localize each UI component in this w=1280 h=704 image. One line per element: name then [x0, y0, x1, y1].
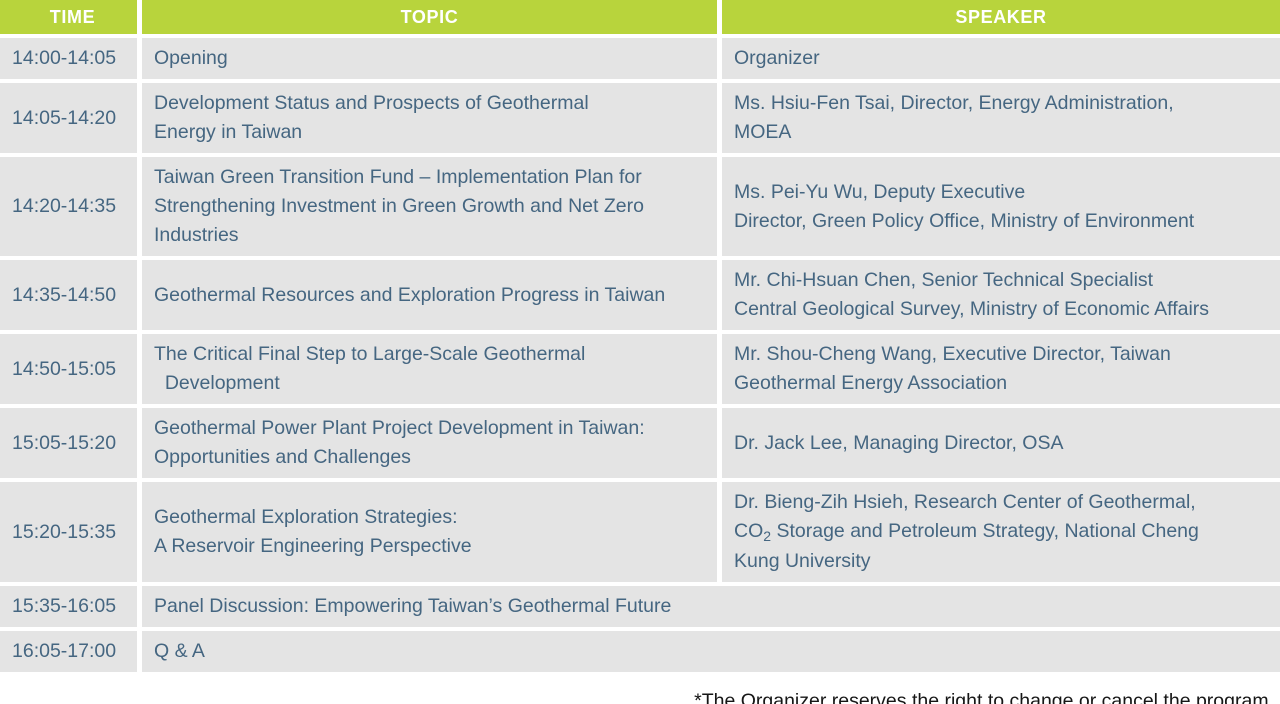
table-row: 14:05-14:20Development Status and Prospe… — [0, 83, 1280, 153]
table-row: 16:05-17:00Q & A — [0, 631, 1280, 672]
topic-line: Strengthening Investment in Green Growth… — [154, 192, 707, 221]
cell-topic: Development Status and Prospects of Geot… — [142, 83, 717, 153]
topic-line: Industries — [154, 221, 707, 250]
topic-line: A Reservoir Engineering Perspective — [154, 532, 707, 561]
speaker-line: Kung University — [734, 547, 1270, 576]
cell-time: 15:35-16:05 — [0, 586, 137, 627]
footnote-disclaimer: *The Organizer reserves the right to cha… — [0, 676, 1280, 704]
speaker-line: Director, Green Policy Office, Ministry … — [734, 207, 1270, 236]
table-row: 15:05-15:20Geothermal Power Plant Projec… — [0, 408, 1280, 478]
cell-time: 14:05-14:20 — [0, 83, 137, 153]
cell-time: 14:50-15:05 — [0, 334, 137, 404]
speaker-line: MOEA — [734, 118, 1270, 147]
speaker-line: Ms. Pei-Yu Wu, Deputy Executive — [734, 178, 1270, 207]
speaker-line: CO2 Storage and Petroleum Strategy, Nati… — [734, 517, 1270, 547]
cell-speaker: Ms. Pei-Yu Wu, Deputy ExecutiveDirector,… — [722, 157, 1280, 256]
speaker-line: Dr. Bieng-Zih Hsieh, Research Center of … — [734, 488, 1270, 517]
cell-speaker: Organizer — [722, 38, 1280, 79]
cell-topic: Geothermal Exploration Strategies:A Rese… — [142, 482, 717, 582]
speaker-line: Central Geological Survey, Ministry of E… — [734, 295, 1270, 324]
table-row: 14:35-14:50Geothermal Resources and Expl… — [0, 260, 1280, 330]
table-header-row: TIME TOPIC SPEAKER — [0, 0, 1280, 34]
cell-speaker: Ms. Hsiu-Fen Tsai, Director, Energy Admi… — [722, 83, 1280, 153]
table-row: 14:50-15:05The Critical Final Step to La… — [0, 334, 1280, 404]
cell-topic: Geothermal Power Plant Project Developme… — [142, 408, 717, 478]
cell-time: 14:00-14:05 — [0, 38, 137, 79]
cell-topic: Geothermal Resources and Exploration Pro… — [142, 260, 717, 330]
speaker-line: Mr. Chi-Hsuan Chen, Senior Technical Spe… — [734, 266, 1270, 295]
cell-topic-fullwidth: Q & A — [142, 631, 1280, 672]
cell-time: 14:20-14:35 — [0, 157, 137, 256]
cell-time: 15:05-15:20 — [0, 408, 137, 478]
agenda-table-page: TIME TOPIC SPEAKER 14:00-14:05OpeningOrg… — [0, 0, 1280, 704]
speaker-line: Ms. Hsiu-Fen Tsai, Director, Energy Admi… — [734, 89, 1270, 118]
column-header-time: TIME — [0, 0, 137, 34]
speaker-line: Geothermal Energy Association — [734, 369, 1270, 398]
table-row: 15:35-16:05Panel Discussion: Empowering … — [0, 586, 1280, 627]
topic-line: Geothermal Resources and Exploration Pro… — [154, 281, 707, 310]
table-body: 14:00-14:05OpeningOrganizer14:05-14:20De… — [0, 38, 1280, 672]
cell-speaker: Mr. Chi-Hsuan Chen, Senior Technical Spe… — [722, 260, 1280, 330]
cell-topic: Opening — [142, 38, 717, 79]
cell-time: 15:20-15:35 — [0, 482, 137, 582]
table-row: 15:20-15:35Geothermal Exploration Strate… — [0, 482, 1280, 582]
speaker-line: Mr. Shou-Cheng Wang, Executive Director,… — [734, 340, 1270, 369]
cell-topic: Taiwan Green Transition Fund – Implement… — [142, 157, 717, 256]
cell-speaker: Dr. Jack Lee, Managing Director, OSA — [722, 408, 1280, 478]
cell-topic-fullwidth: Panel Discussion: Empowering Taiwan’s Ge… — [142, 586, 1280, 627]
topic-line: Opening — [154, 44, 707, 73]
cell-speaker: Dr. Bieng-Zih Hsieh, Research Center of … — [722, 482, 1280, 582]
cell-speaker: Mr. Shou-Cheng Wang, Executive Director,… — [722, 334, 1280, 404]
cell-time: 14:35-14:50 — [0, 260, 137, 330]
topic-line: Development — [154, 369, 707, 398]
topic-line: Geothermal Exploration Strategies: — [154, 503, 707, 532]
topic-line: Energy in Taiwan — [154, 118, 707, 147]
topic-line: Development Status and Prospects of Geot… — [154, 89, 707, 118]
topic-line: Q & A — [154, 637, 1270, 666]
cell-time: 16:05-17:00 — [0, 631, 137, 672]
topic-line: Geothermal Power Plant Project Developme… — [154, 414, 707, 443]
topic-line: The Critical Final Step to Large-Scale G… — [154, 340, 707, 369]
topic-line: Taiwan Green Transition Fund – Implement… — [154, 163, 707, 192]
column-header-topic: TOPIC — [142, 0, 717, 34]
table-row: 14:00-14:05OpeningOrganizer — [0, 38, 1280, 79]
speaker-line: Dr. Jack Lee, Managing Director, OSA — [734, 429, 1270, 458]
topic-line: Panel Discussion: Empowering Taiwan’s Ge… — [154, 592, 1270, 621]
speaker-line: Organizer — [734, 44, 1270, 73]
cell-topic: The Critical Final Step to Large-Scale G… — [142, 334, 717, 404]
table-row: 14:20-14:35Taiwan Green Transition Fund … — [0, 157, 1280, 256]
topic-line: Opportunities and Challenges — [154, 443, 707, 472]
column-header-speaker: SPEAKER — [722, 0, 1280, 34]
